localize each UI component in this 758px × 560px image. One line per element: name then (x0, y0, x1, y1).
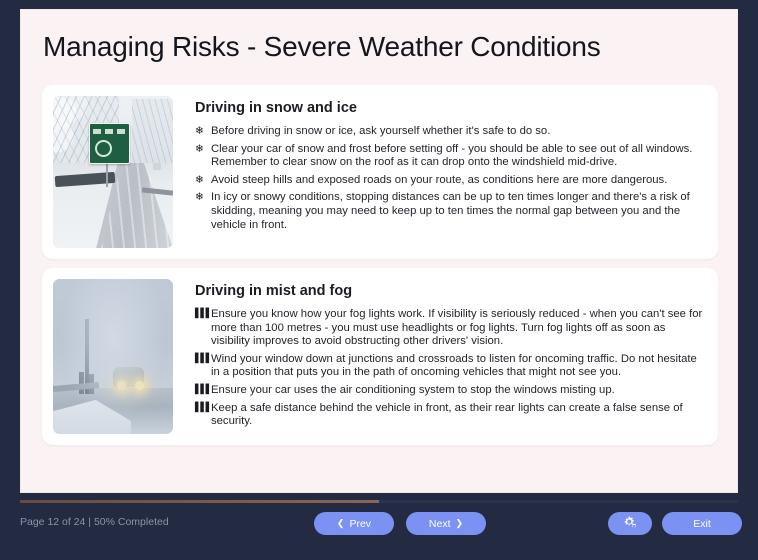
progress-bar-fill (20, 500, 379, 503)
list-item: ❄ Clear your car of snow and frost befor… (195, 143, 707, 170)
fog-bars-icon: ▌▌▌ (195, 384, 211, 398)
list-item: ❄ Avoid steep hills and exposed roads on… (195, 174, 707, 188)
list-item: ❄ In icy or snowy conditions, stopping d… (195, 191, 707, 232)
next-button-label: Next (429, 518, 451, 530)
card-heading: Driving in mist and fog (195, 283, 707, 299)
navigation-controls: ❮ Prev Next ❯ (314, 512, 486, 535)
card-body: Driving in snow and ice ❄ Before driving… (173, 96, 707, 248)
slide-viewer: Managing Risks - Severe Weather Conditio… (0, 0, 758, 560)
green-road-sign-icon (89, 123, 130, 164)
gear-icon (623, 515, 638, 532)
utility-controls: Exit (608, 512, 742, 535)
exit-button[interactable]: Exit (662, 512, 742, 535)
list-item-text: Keep a safe distance behind the vehicle … (211, 402, 707, 429)
next-button[interactable]: Next ❯ (406, 512, 486, 535)
settings-button[interactable] (608, 512, 652, 535)
bullet-list: ❄ Before driving in snow or ice, ask you… (195, 125, 707, 232)
card-heading: Driving in snow and ice (195, 100, 707, 116)
chevron-left-icon: ❮ (337, 518, 345, 529)
fog-bars-icon: ▌▌▌ (195, 402, 211, 429)
snowflake-icon: ❄ (195, 174, 211, 188)
card-list: Driving in snow and ice ❄ Before driving… (42, 85, 718, 454)
card-body: Driving in mist and fog ▌▌▌ Ensure you k… (173, 279, 707, 434)
list-item: ▌▌▌ Wind your window down at junctions a… (195, 353, 707, 380)
chevron-right-icon: ❯ (456, 518, 464, 529)
list-item-text: In icy or snowy conditions, stopping dis… (211, 191, 707, 232)
content-card-snow-and-ice: Driving in snow and ice ❄ Before driving… (42, 85, 718, 259)
list-item: ❄ Before driving in snow or ice, ask you… (195, 125, 707, 139)
list-item: ▌▌▌ Keep a safe distance behind the vehi… (195, 402, 707, 429)
snowflake-icon: ❄ (195, 191, 211, 232)
footer-bar: Page 12 of 24 | 50% Completed ❮ Prev Nex… (0, 504, 758, 548)
list-item-text: Avoid steep hills and exposed roads on y… (211, 174, 707, 188)
fog-bars-icon: ▌▌▌ (195, 308, 211, 349)
progress-bar[interactable] (20, 500, 738, 503)
list-item: ▌▌▌ Ensure your car uses the air conditi… (195, 384, 707, 398)
exit-button-label: Exit (693, 518, 711, 530)
bullet-list: ▌▌▌ Ensure you know how your fog lights … (195, 308, 707, 429)
slide-canvas: Managing Risks - Severe Weather Conditio… (20, 9, 738, 493)
fog-bars-icon: ▌▌▌ (195, 353, 211, 380)
page-title: Managing Risks - Severe Weather Conditio… (43, 31, 601, 63)
list-item-text: Before driving in snow or ice, ask yours… (211, 125, 707, 139)
list-item-text: Ensure your car uses the air conditionin… (211, 384, 707, 398)
list-item: ▌▌▌ Ensure you know how your fog lights … (195, 308, 707, 349)
snowflake-icon: ❄ (195, 125, 211, 139)
content-card-mist-and-fog: Driving in mist and fog ▌▌▌ Ensure you k… (42, 268, 718, 445)
list-item-text: Clear your car of snow and frost before … (211, 143, 707, 170)
list-item-text: Ensure you know how your fog lights work… (211, 308, 707, 349)
snow-road-image (53, 96, 173, 248)
fog-road-image (53, 279, 173, 434)
prev-button[interactable]: ❮ Prev (314, 512, 394, 535)
list-item-text: Wind your window down at junctions and c… (211, 353, 707, 380)
prev-button-label: Prev (349, 518, 371, 530)
snowflake-icon: ❄ (195, 143, 211, 170)
page-status-text: Page 12 of 24 | 50% Completed (20, 516, 169, 528)
